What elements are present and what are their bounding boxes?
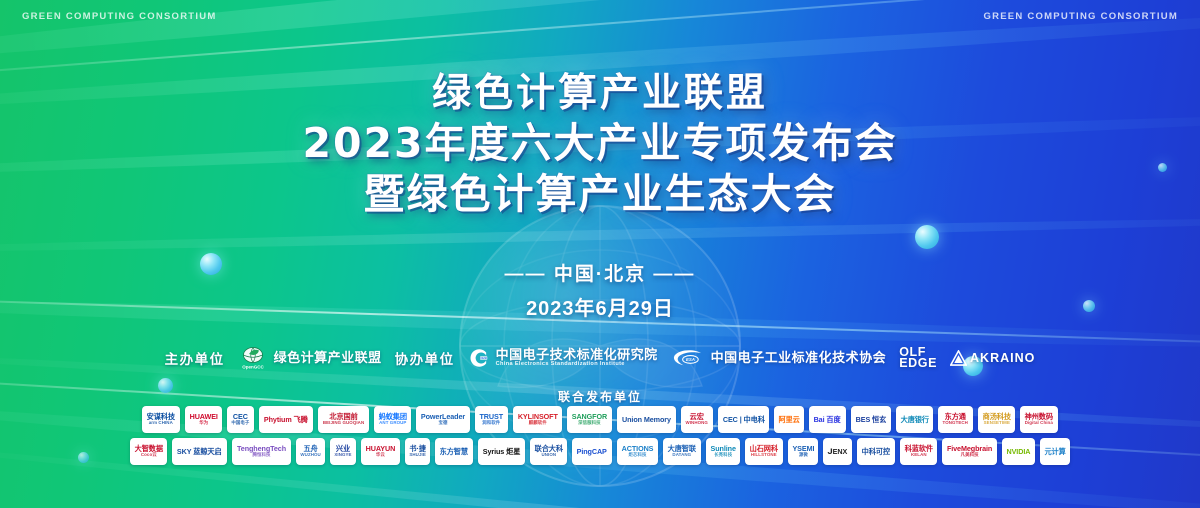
partner-logo-chip[interactable]: 安谋科技arm CHINA bbox=[142, 406, 180, 433]
title-line-2: 2023年度六大产业专项发布会 bbox=[0, 121, 1200, 167]
event-city: —— 中国·北京 —— bbox=[0, 259, 1200, 286]
partner-logo-text: Bai 百度 bbox=[814, 416, 841, 423]
partner-logo-chip[interactable]: TRUST润和软件 bbox=[475, 406, 508, 433]
partner-logo-chip[interactable]: 书·捷SHUJIE bbox=[405, 438, 430, 465]
partner-logo-chip[interactable]: SKY 蓝鲸天启 bbox=[172, 438, 227, 465]
partner-logo-chip[interactable]: 科蓝软件KELAN bbox=[900, 438, 938, 465]
partner-logo-chip[interactable]: PingCAP bbox=[572, 438, 611, 465]
partner-logo-text: 书·捷SHUJIE bbox=[409, 445, 426, 457]
partner-logo-subname: 腾恒科技 bbox=[237, 453, 286, 457]
partner-logo-chip[interactable]: Union Memory bbox=[617, 406, 676, 433]
partner-logo-chip[interactable]: CEC | 中电科 bbox=[718, 406, 770, 433]
partner-logo-subname: 中国电子 bbox=[232, 421, 250, 425]
partner-logo-subname: TONGTECH bbox=[943, 421, 968, 425]
partner-logo-chip[interactable]: 蚂蚁集团ANT GROUP bbox=[374, 406, 412, 433]
partner-logo-text: ᒍENX bbox=[828, 448, 848, 455]
partner-logo-text: 中科可控 bbox=[862, 448, 890, 455]
partner-logo-chip[interactable]: 中科可控 bbox=[857, 438, 895, 465]
partner-logo-text: TRUST润和软件 bbox=[480, 413, 504, 425]
partner-logo-subname: WUZHOU bbox=[300, 453, 320, 457]
partner-logo-subname: XINGYE bbox=[334, 453, 351, 457]
partner-logo-text: 神州数码Digital China bbox=[1025, 413, 1053, 425]
organizer-row: 主办单位 OpenGCC 绿色计算产业联盟 协办单位 CESI 中国电子技术标准… bbox=[0, 345, 1200, 371]
partner-logo-text: 山石网科HILLSTONE bbox=[749, 445, 777, 457]
partner-logo-text: 北京国前BEIJING GUOQIAN bbox=[322, 413, 363, 425]
partner-logo-name: BES 恒玄 bbox=[855, 416, 886, 423]
host-label: 主办单位 bbox=[165, 348, 225, 368]
partner-logo-chip[interactable]: HUAWEI华为 bbox=[185, 406, 222, 433]
corner-watermark-right: GREEN COMPUTING CONSORTIUM bbox=[983, 11, 1178, 22]
poster-title: 绿色计算产业联盟 2023年度六大产业专项发布会 暨绿色计算产业生态大会 bbox=[0, 72, 1200, 217]
partner-logo-name: 元计算 bbox=[1045, 448, 1066, 455]
partner-logo-text: SKY 蓝鲸天启 bbox=[177, 448, 222, 455]
corner-watermark-left: GREEN COMPUTING CONSORTIUM bbox=[22, 11, 217, 22]
coorganizer-cesi-en: China Electronics Standardization Instit… bbox=[496, 362, 658, 368]
partner-logo-name: 东方智慧 bbox=[440, 448, 468, 455]
partner-logo-subname: 宝德 bbox=[421, 421, 465, 425]
partner-logo-subname: UNION bbox=[534, 453, 562, 457]
partner-logo-text: Union Memory bbox=[622, 416, 671, 423]
partner-logo-text: FiveMegbrain凡美科技 bbox=[947, 445, 992, 457]
esa-logo-icon: ESA bbox=[671, 349, 705, 367]
partner-logo-text: Sunline长亮科技 bbox=[710, 445, 735, 457]
partner-logo-subname: 长亮科技 bbox=[710, 453, 735, 457]
host-organization: OpenGCC 绿色计算产业联盟 bbox=[238, 345, 382, 371]
partner-logo-subname: KELAN bbox=[904, 453, 932, 457]
logo-row-2: 大智数据Coco云SKY 蓝鲸天启TenghengTech腾恒科技五舟WUZHO… bbox=[52, 438, 1148, 465]
partner-logo-chip[interactable]: 东方智慧 bbox=[435, 438, 473, 465]
partner-logo-subname: 源微 bbox=[792, 453, 814, 457]
partner-logo-text: 大智数据Coco云 bbox=[134, 445, 162, 457]
partner-logo-text: PowerLeader宝德 bbox=[421, 413, 465, 425]
lf-edge-line2: EDGE bbox=[899, 358, 937, 370]
partner-logo-text: 蚂蚁集团ANT GROUP bbox=[378, 413, 406, 425]
logo-row-1: 安谋科技arm CHINAHUAWEI华为CEC中国电子Phytium 飞腾北京… bbox=[52, 406, 1148, 433]
coorganizer-esa-name: 中国电子工业标准化技术协会 bbox=[711, 351, 887, 365]
partner-logo-text: KYLINSOFT麒麟软件 bbox=[518, 413, 558, 425]
partner-logo-chip[interactable]: 兴业XINGYE bbox=[330, 438, 356, 465]
partner-logo-text: YSEMI源微 bbox=[792, 445, 814, 457]
partner-logo-text: CEC | 中电科 bbox=[722, 416, 764, 423]
partner-logo-chip[interactable]: 联合大科UNION bbox=[530, 438, 568, 465]
partner-logo-name: NVIDIA bbox=[1007, 448, 1031, 455]
partner-logo-subname: 润和软件 bbox=[480, 421, 504, 425]
conference-poster: GREEN COMPUTING CONSORTIUM GREEN COMPUTI… bbox=[0, 0, 1200, 508]
partner-logo-subname: Digital China bbox=[1025, 421, 1053, 425]
partner-logo-subname: 凡美科技 bbox=[947, 453, 992, 457]
partner-logo-text: 商汤科技SENSETIME bbox=[982, 413, 1010, 425]
partner-logo-chip[interactable]: YSEMI源微 bbox=[788, 438, 819, 465]
partner-logo-text: TenghengTech腾恒科技 bbox=[237, 445, 286, 457]
partner-logo-name: ᒍENX bbox=[828, 448, 848, 455]
partner-logo-subname: 华云 bbox=[366, 453, 396, 457]
partner-logo-subname: 麒麟软件 bbox=[518, 421, 558, 425]
joint-publishers-wall: 安谋科技arm CHINAHUAWEI华为CEC中国电子Phytium 飞腾北京… bbox=[52, 406, 1148, 470]
partner-logo-text: NVIDIA bbox=[1007, 448, 1031, 455]
partner-logo-name: CEC | 中电科 bbox=[722, 416, 764, 423]
akraino-wordmark: AKRAINO bbox=[970, 351, 1035, 365]
partner-logo-chip[interactable]: 东方通TONGTECH bbox=[938, 406, 973, 433]
partner-logo-chip[interactable]: NVIDIA bbox=[1002, 438, 1035, 465]
partner-logo-chip[interactable]: 山石网科HILLSTONE bbox=[745, 438, 783, 465]
opengcc-logo-icon: OpenGCC bbox=[238, 345, 268, 371]
partner-logo-chip[interactable]: Sunline长亮科技 bbox=[706, 438, 740, 465]
partner-logo-name: 中科可控 bbox=[862, 448, 890, 455]
partner-logo-chip[interactable]: 大智数据Coco云 bbox=[130, 438, 168, 465]
title-line-1: 绿色计算产业联盟 bbox=[0, 72, 1200, 116]
partner-logo-name: SKY 蓝鲸天启 bbox=[177, 448, 222, 455]
partner-logo-text: Phytium 飞腾 bbox=[264, 416, 308, 423]
partner-logo-chip[interactable]: 大唐银行 bbox=[896, 406, 934, 433]
coorganizer-esa: ESA 中国电子工业标准化技术协会 bbox=[671, 349, 887, 367]
partner-logo-subname: Coco云 bbox=[134, 453, 162, 457]
partner-logo-name: Union Memory bbox=[622, 416, 671, 423]
decorative-sphere bbox=[915, 225, 939, 249]
joint-publishers-label: 联合发布单位 bbox=[0, 388, 1200, 405]
partner-logo-chip[interactable]: ᒍENX bbox=[823, 438, 852, 465]
title-line-3: 暨绿色计算产业生态大会 bbox=[0, 172, 1200, 218]
partner-logo-text: 东方智慧 bbox=[440, 448, 468, 455]
partner-logo-chip[interactable]: Phytium 飞腾 bbox=[259, 406, 313, 433]
partner-logo-chip[interactable]: 大唐智联DATANG bbox=[663, 438, 701, 465]
partner-logo-text: 安谋科技arm CHINA bbox=[147, 413, 175, 425]
partner-logo-subname: HILLSTONE bbox=[749, 453, 777, 457]
partner-logo-chip[interactable]: 神州数码Digital China bbox=[1020, 406, 1058, 433]
host-organization-name: 绿色计算产业联盟 bbox=[274, 351, 382, 365]
partner-logo-text: Syrius 炬星 bbox=[482, 448, 520, 455]
partner-logo-text: HUAWEI华为 bbox=[189, 413, 217, 425]
coorganizer-cesi-cn: 中国电子技术标准化研究院 bbox=[496, 347, 658, 362]
partner-logo-chip[interactable]: 元计算 bbox=[1040, 438, 1070, 465]
partner-logo-subname: SHUJIE bbox=[409, 453, 426, 457]
partner-logo-subname: 深信服科技 bbox=[572, 421, 607, 425]
partner-logo-text: 元计算 bbox=[1045, 448, 1066, 455]
partner-logo-text: 科蓝软件KELAN bbox=[904, 445, 932, 457]
partner-logo-subname: BEIJING GUOQIAN bbox=[322, 421, 363, 425]
partner-logo-chip[interactable]: Bai 百度 bbox=[809, 406, 845, 433]
partner-logo-subname: ANT GROUP bbox=[378, 421, 406, 425]
cesi-logo-icon: CESI bbox=[468, 347, 490, 369]
partner-logo-text: 大唐银行 bbox=[900, 416, 928, 423]
partner-logo-chip[interactable]: PowerLeader宝德 bbox=[416, 406, 470, 433]
partner-logo-name: 大唐银行 bbox=[900, 416, 928, 423]
partner-logo-text: BES 恒玄 bbox=[855, 416, 886, 423]
partner-logo-chip[interactable]: FiveMegbrain凡美科技 bbox=[942, 438, 997, 465]
partner-logo-text: HUAYUN华云 bbox=[366, 445, 396, 457]
partner-logo-text: PingCAP bbox=[577, 448, 607, 455]
partner-logo-chip[interactable]: 五舟WUZHOU bbox=[296, 438, 325, 465]
svg-text:ESA: ESA bbox=[686, 357, 695, 362]
akraino-mark-icon bbox=[950, 350, 967, 366]
partner-logo-chip[interactable]: 阿里云 bbox=[774, 406, 804, 433]
event-meta: —— 中国·北京 —— 2023年6月29日 bbox=[0, 259, 1200, 321]
partner-logo-text: 联合大科UNION bbox=[534, 445, 562, 457]
partner-logo-chip[interactable]: KYLINSOFT麒麟软件 bbox=[513, 406, 563, 433]
partner-logo-chip[interactable]: HUAYUN华云 bbox=[361, 438, 400, 465]
partner-logo-chip[interactable]: ACTIONS炬芯科技 bbox=[617, 438, 658, 465]
partner-logo-text: CEC中国电子 bbox=[232, 413, 250, 425]
partner-logo-name: PingCAP bbox=[577, 448, 607, 455]
coorganizer-label: 协办单位 bbox=[395, 348, 455, 368]
partner-logo-text: 兴业XINGYE bbox=[334, 445, 351, 457]
partner-logo-chip[interactable]: 云宏WINHONG bbox=[681, 406, 712, 433]
partner-logo-chip[interactable]: Syrius 炬星 bbox=[478, 438, 525, 465]
partner-logo-chip[interactable]: BES 恒玄 bbox=[851, 406, 891, 433]
lf-edge-logo: OLF EDGE bbox=[899, 347, 937, 370]
partner-logo-chip[interactable]: SANGFOR深信服科技 bbox=[567, 406, 612, 433]
partner-logo-chip[interactable]: CEC中国电子 bbox=[227, 406, 254, 433]
partner-logo-name: Phytium 飞腾 bbox=[264, 416, 308, 423]
partner-logo-text: 阿里云 bbox=[779, 416, 800, 423]
akraino-logo: AKRAINO bbox=[950, 350, 1035, 366]
partner-logo-text: 云宏WINHONG bbox=[686, 413, 708, 425]
partner-logo-chip[interactable]: TenghengTech腾恒科技 bbox=[232, 438, 291, 465]
light-band bbox=[0, 213, 1200, 256]
partner-logo-text: SANGFOR深信服科技 bbox=[572, 413, 607, 425]
partner-logo-subname: DATANG bbox=[667, 453, 695, 457]
partner-logo-text: 五舟WUZHOU bbox=[300, 445, 320, 457]
partner-logo-subname: WINHONG bbox=[686, 421, 708, 425]
partner-logo-name: Syrius 炬星 bbox=[482, 448, 520, 455]
event-date: 2023年6月29日 bbox=[0, 292, 1200, 321]
partner-logo-subname: SENSETIME bbox=[982, 421, 1010, 425]
partner-logo-name: 阿里云 bbox=[779, 416, 800, 423]
partner-logo-name: Bai 百度 bbox=[814, 416, 841, 423]
partner-logo-text: ACTIONS炬芯科技 bbox=[621, 445, 653, 457]
svg-text:CESI: CESI bbox=[480, 356, 487, 360]
partner-logo-subname: 炬芯科技 bbox=[621, 453, 653, 457]
partner-logo-text: 大唐智联DATANG bbox=[667, 445, 695, 457]
partner-logo-chip[interactable]: 商汤科技SENSETIME bbox=[978, 406, 1016, 433]
svg-text:OpenGCC: OpenGCC bbox=[242, 365, 264, 370]
partner-logo-text: 东方通TONGTECH bbox=[943, 413, 968, 425]
coorganizer-cesi: CESI 中国电子技术标准化研究院 China Electronics Stan… bbox=[468, 347, 658, 369]
coorganizer-cesi-name: 中国电子技术标准化研究院 China Electronics Standardi… bbox=[496, 348, 658, 369]
partner-logo-subname: 华为 bbox=[189, 421, 217, 425]
partner-logo-subname: arm CHINA bbox=[147, 421, 175, 425]
partner-logo-chip[interactable]: 北京国前BEIJING GUOQIAN bbox=[318, 406, 369, 433]
